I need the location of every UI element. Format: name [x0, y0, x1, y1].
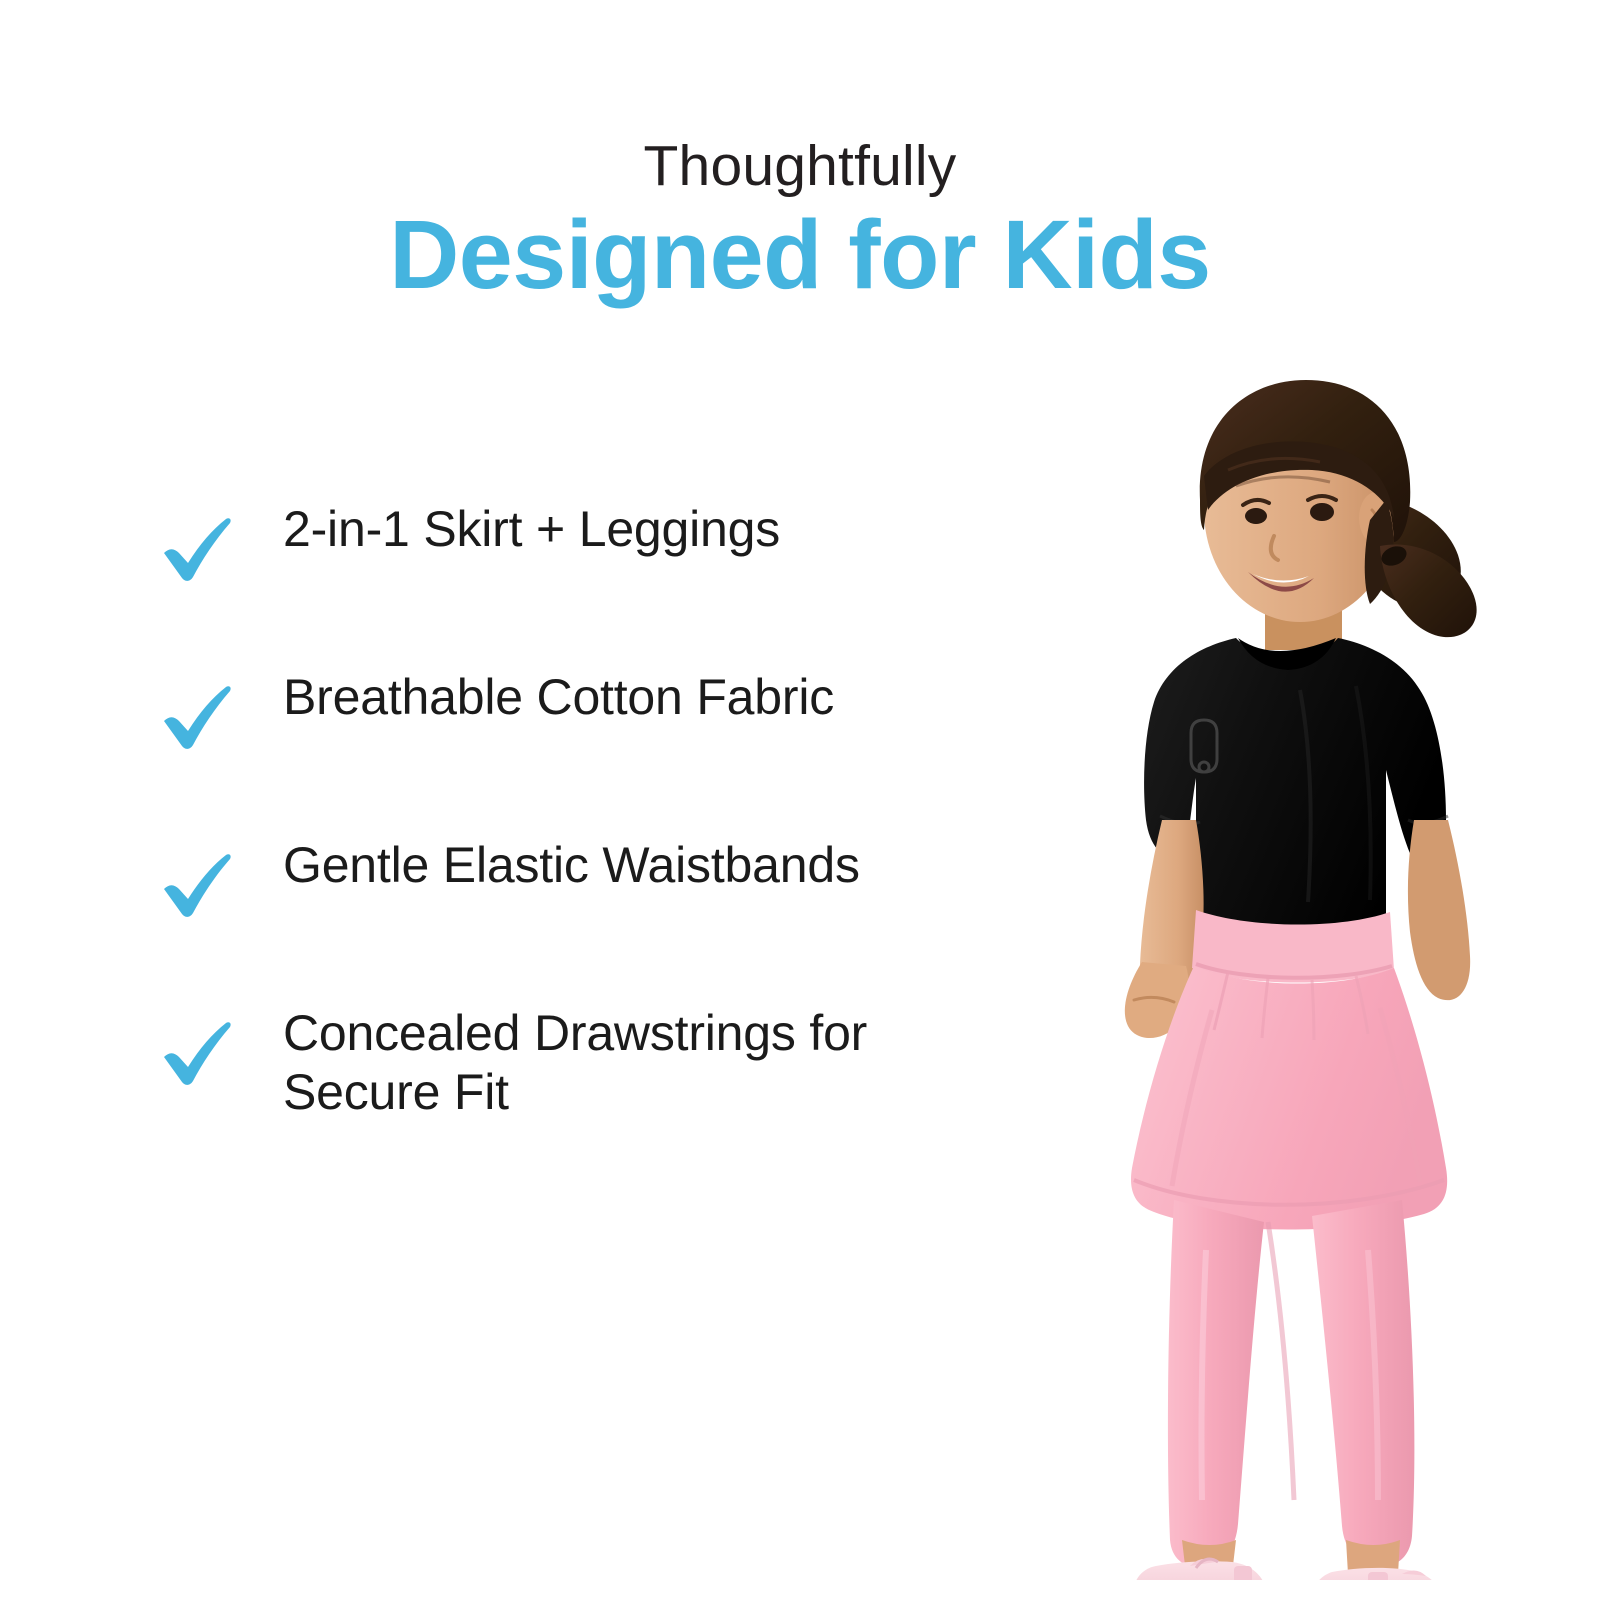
headline-eyebrow: Thoughtfully	[0, 138, 1600, 195]
headline-main: Designed for Kids	[0, 203, 1600, 308]
list-item-label: Breathable Cotton Fabric	[283, 668, 1043, 727]
list-item: 2-in-1 Skirt + Leggings	[160, 492, 1060, 612]
feature-list: 2-in-1 Skirt + Leggings Breathable Cotto…	[160, 492, 1060, 1116]
shoe-left	[1134, 1559, 1266, 1580]
list-item-label: Concealed Drawstrings for Secure Fit	[283, 1004, 1043, 1121]
list-item-label: Gentle Elastic Waistbands	[283, 836, 1043, 895]
list-item: Concealed Drawstrings for Secure Fit	[160, 996, 1060, 1116]
checkmark-icon	[160, 1010, 238, 1088]
shoe-right	[1312, 1568, 1442, 1580]
list-item-label: 2-in-1 Skirt + Leggings	[283, 500, 1043, 559]
list-item: Gentle Elastic Waistbands	[160, 828, 1060, 948]
list-item: Breathable Cotton Fabric	[160, 660, 1060, 780]
product-photo	[1050, 350, 1570, 1580]
model-illustration	[1050, 350, 1570, 1580]
checkmark-icon	[160, 674, 238, 752]
page-title: Thoughtfully Designed for Kids	[0, 138, 1600, 308]
checkmark-icon	[160, 506, 238, 584]
checkmark-icon	[160, 842, 238, 920]
marketing-banner: Thoughtfully Designed for Kids 2-in-1 Sk…	[0, 0, 1600, 1600]
